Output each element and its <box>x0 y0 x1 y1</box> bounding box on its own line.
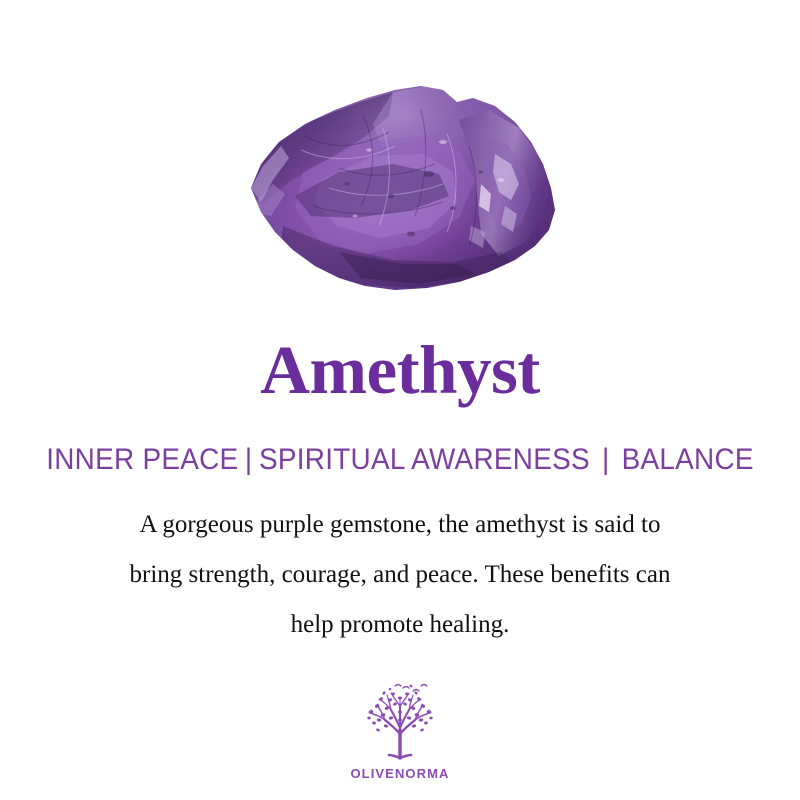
description-line: A gorgeous purple gemstone, the amethyst… <box>0 500 800 550</box>
attribute-balance: BALANCE <box>622 443 754 476</box>
description-text: A gorgeous purple gemstone, the amethyst… <box>0 500 800 650</box>
amethyst-crystal-photo <box>243 76 563 294</box>
brand-wordmark: OLIVENORMA <box>350 766 449 781</box>
crystal-illustration <box>243 76 563 294</box>
description-line: bring strength, courage, and peace. Thes… <box>0 550 800 600</box>
brand-logo: OLIVENORMA <box>0 682 800 781</box>
tree-of-life-icon <box>357 682 443 764</box>
hero-image-area <box>0 0 800 320</box>
attribute-list: INNER PEACE|SPIRITUAL AWARENESS|BALANCE <box>28 443 772 476</box>
attribute-inner-peace: INNER PEACE <box>46 443 238 476</box>
page-title: Amethyst <box>0 336 800 405</box>
attribute-separator: | <box>238 443 259 476</box>
attribute-spiritual-awareness: SPIRITUAL AWARENESS <box>259 443 590 476</box>
attribute-separator: | <box>590 443 622 476</box>
amethyst-info-card: Amethyst INNER PEACE|SPIRITUAL AWARENESS… <box>0 0 800 800</box>
description-line: help promote healing. <box>0 600 800 650</box>
